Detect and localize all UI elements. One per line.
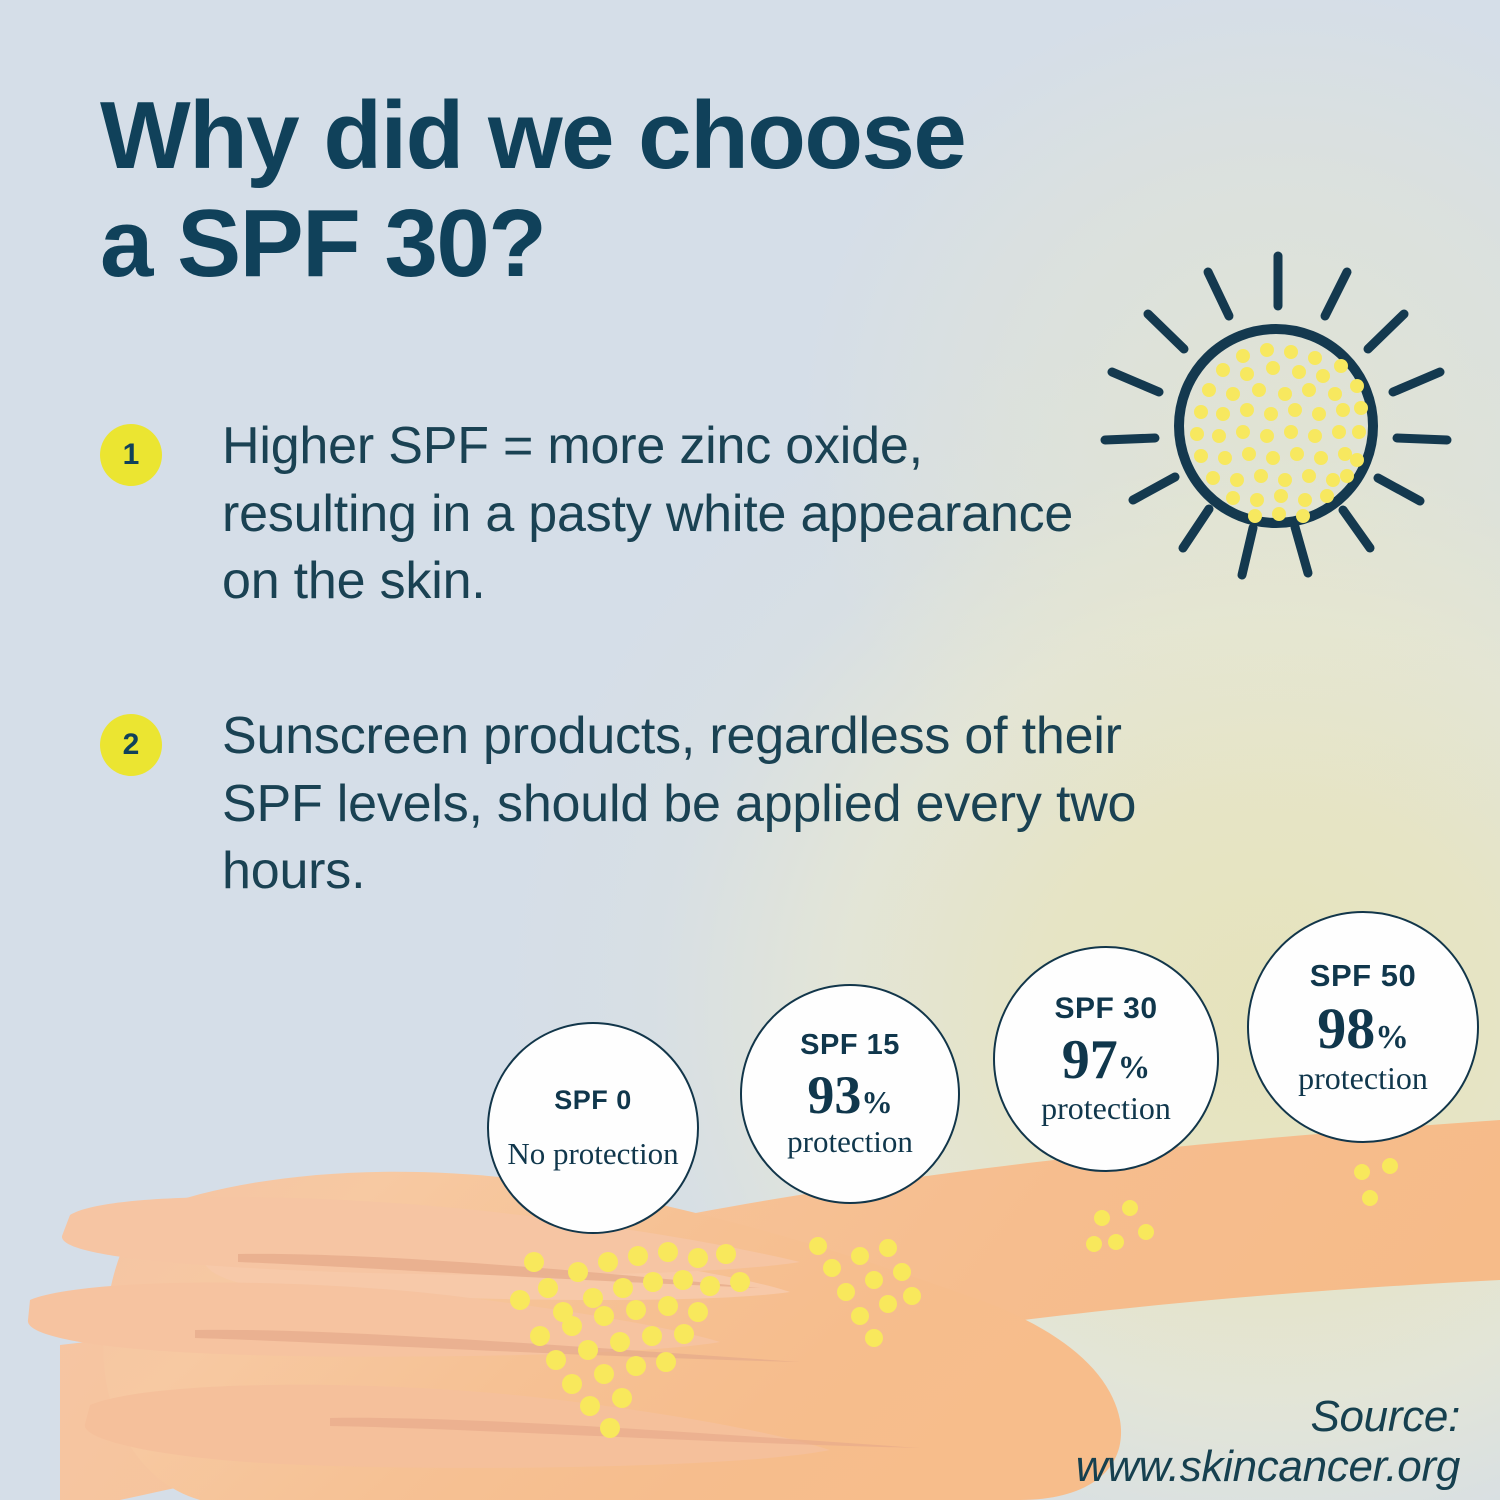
spf-badge-percent-sign: % xyxy=(861,1085,892,1120)
spf-badge-label: SPF 15 xyxy=(800,1029,900,1062)
spf-badge-30: SPF 30 97% protection xyxy=(993,946,1219,1172)
spf-badge-label: SPF 50 xyxy=(1310,958,1416,994)
list-item: 2 Sunscreen products, regardless of thei… xyxy=(100,703,1180,906)
spf-badge-protection: No protection xyxy=(507,1138,678,1171)
spf-badge-protection: protection xyxy=(1298,1062,1428,1096)
spf-badge-protection: protection xyxy=(787,1126,913,1159)
infographic-poster: Why did we choose a SPF 30? 1 Higher SPF… xyxy=(0,0,1500,1500)
spf-badge-percent-sign: % xyxy=(1375,1019,1409,1056)
spf-badge-protection: protection xyxy=(1041,1092,1171,1126)
page-title: Why did we choose a SPF 30? xyxy=(100,82,1160,297)
spf-badge-percent-value: 98 xyxy=(1317,996,1375,1061)
list-item: 1 Higher SPF = more zinc oxide, resultin… xyxy=(100,413,1100,616)
spf-badge-label: SPF 30 xyxy=(1054,992,1157,1026)
spf-badge-percent-value: 97 xyxy=(1062,1029,1118,1091)
spf-badge-percent: 97% xyxy=(1062,1032,1150,1088)
spf-badge-label: SPF 0 xyxy=(554,1085,632,1116)
source-attribution: Source: www.skincancer.org xyxy=(920,1392,1460,1492)
spf-badge-percent-sign: % xyxy=(1118,1050,1150,1086)
list-item-number-badge: 2 xyxy=(100,714,162,776)
spf-badge-percent-value: 93 xyxy=(807,1065,861,1125)
title-line-1: Why did we choose xyxy=(100,82,965,189)
spf-badge-0: SPF 0 No protection xyxy=(487,1022,699,1234)
sun-icon xyxy=(1095,248,1455,593)
spf-badge-percent: 98% xyxy=(1317,1000,1409,1058)
list-item-text: Higher SPF = more zinc oxide, resulting … xyxy=(222,413,1100,616)
list-item-text: Sunscreen products, regardless of their … xyxy=(222,703,1180,906)
title-line-2: a SPF 30? xyxy=(100,190,1160,298)
spf-badge-15: SPF 15 93% protection xyxy=(740,984,960,1204)
list-item-number-badge: 1 xyxy=(100,424,162,486)
spf-badge-50: SPF 50 98% protection xyxy=(1247,911,1479,1143)
spf-badge-percent: 93% xyxy=(807,1068,892,1122)
